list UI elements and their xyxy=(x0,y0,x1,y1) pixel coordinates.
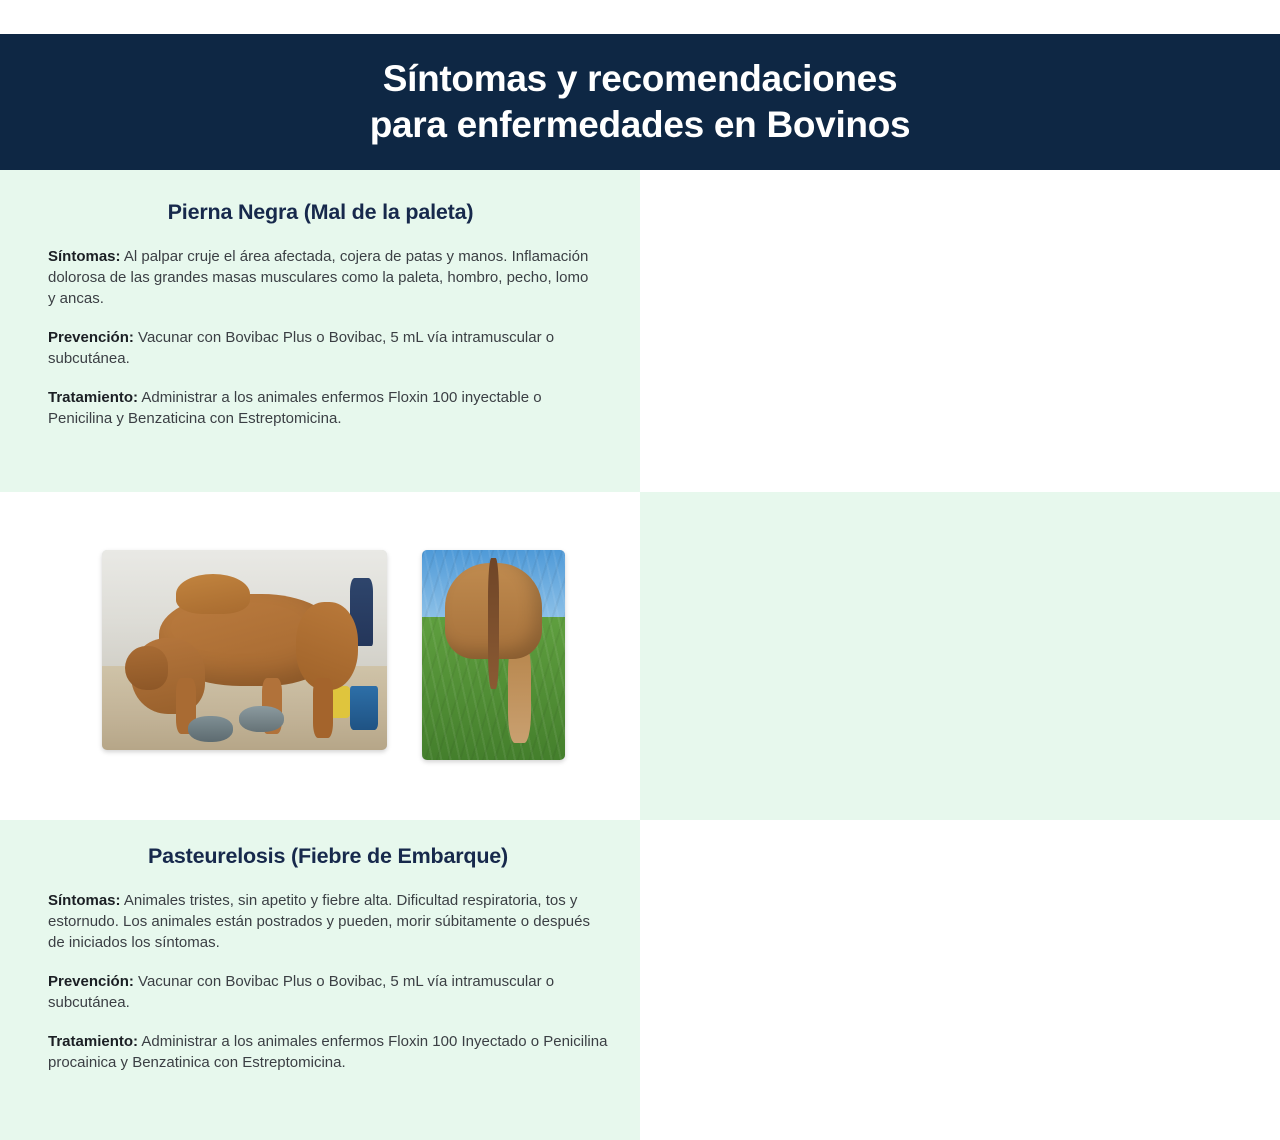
pierna-negra-sintomas-text: Al palpar cruje el área afectada, cojera… xyxy=(48,248,588,307)
pierna-negra-title: Pierna Negra (Mal de la paleta) xyxy=(48,198,593,226)
edema-maligno-image-panel xyxy=(0,492,640,820)
pasteurelosis-prevencion: Prevención: Vacunar con Bovibac Plus o B… xyxy=(48,971,608,1013)
pasteurelosis-title: Pasteurelosis (Fiebre de Embarque) xyxy=(48,842,608,870)
photo-vaca-con-becerro xyxy=(102,550,387,750)
header-title-line-2: para enfermedades en Bovinos xyxy=(370,102,911,148)
header-banner: Síntomas y recomendaciones para enfermed… xyxy=(0,34,1280,170)
infographic-page: Síntomas y recomendaciones para enfermed… xyxy=(0,0,1280,1140)
label-sintomas: Síntomas: xyxy=(48,892,121,909)
pierna-negra-tratamiento: Tratamiento: Administrar a los animales … xyxy=(48,387,593,429)
pierna-negra-sintomas: Síntomas: Al palpar cruje el área afecta… xyxy=(48,246,593,309)
edema-maligno-photo-group xyxy=(102,550,565,760)
pasteurelosis-text-panel: Pasteurelosis (Fiebre de Embarque) Sínto… xyxy=(0,820,640,1140)
label-sintomas: Síntomas: xyxy=(48,248,121,265)
pasteurelosis-image-panel xyxy=(640,820,1280,1140)
label-tratamiento: Tratamiento: xyxy=(48,1033,138,1050)
section-pierna-negra: Pierna Negra (Mal de la paleta) Síntomas… xyxy=(0,170,1280,492)
pierna-negra-textblock: Pierna Negra (Mal de la paleta) Síntomas… xyxy=(48,198,593,429)
section-edema-maligno: Edema Maligno (Gangrena Gaseosa) Síntoma… xyxy=(0,492,1280,820)
section-pasteurelosis: Pasteurelosis (Fiebre de Embarque) Sínto… xyxy=(0,820,1280,1140)
pasteurelosis-sintomas-text: Animales tristes, sin apetito y fiebre a… xyxy=(48,892,590,951)
header-title-line-1: Síntomas y recomendaciones xyxy=(383,56,898,102)
edema-maligno-text-panel: Edema Maligno (Gangrena Gaseosa) Síntoma… xyxy=(640,492,1280,820)
pasteurelosis-textblock: Pasteurelosis (Fiebre de Embarque) Sínto… xyxy=(48,842,608,1073)
pierna-negra-text-panel: Pierna Negra (Mal de la paleta) Síntomas… xyxy=(0,170,640,492)
label-prevencion: Prevención: xyxy=(48,973,134,990)
label-prevencion: Prevención: xyxy=(48,329,134,346)
label-tratamiento: Tratamiento: xyxy=(48,389,138,406)
pierna-negra-prevencion: Prevención: Vacunar con Bovibac Plus o B… xyxy=(48,327,593,369)
photo-vista-trasera-vaca xyxy=(422,550,565,760)
pasteurelosis-tratamiento: Tratamiento: Administrar a los animales … xyxy=(48,1031,608,1073)
pierna-negra-image-panel xyxy=(640,170,1280,492)
pasteurelosis-sintomas: Síntomas: Animales tristes, sin apetito … xyxy=(48,890,608,953)
